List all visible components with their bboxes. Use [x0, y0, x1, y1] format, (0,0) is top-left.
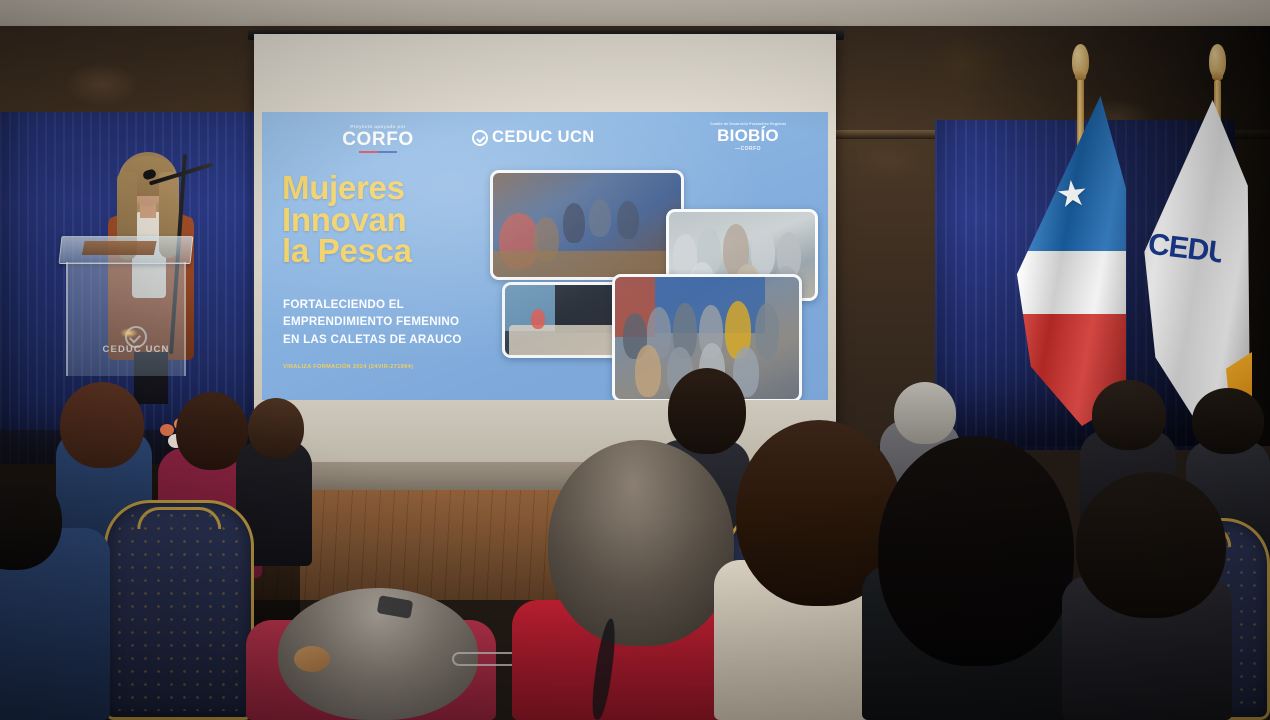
attendee-head	[248, 398, 304, 458]
corfo-logo: Proyecto apoyado por CORFO	[318, 124, 438, 153]
slide-headline: Mujeres Innovan la Pesca	[282, 172, 512, 267]
podium-top-surface	[59, 236, 194, 264]
hair-scrunchie	[294, 646, 330, 672]
chile-flag-star-icon: ★	[1054, 174, 1090, 213]
eyeglasses-icon	[452, 652, 518, 666]
slide-photo-collage	[490, 170, 820, 395]
presentation-photo-scene: Proyecto apoyado por CORFO CEDUC UCN Com…	[0, 0, 1270, 720]
banquet-chair	[104, 500, 254, 720]
podium-notes	[82, 241, 157, 255]
corfo-pretext: Proyecto apoyado por	[318, 124, 438, 129]
flagpole-finial-chile	[1072, 44, 1089, 78]
collage-photo-1	[490, 170, 684, 280]
attendee-head	[1092, 380, 1166, 450]
corfo-accent-bar	[359, 151, 397, 153]
ceduc-name: CEDUC UCN	[492, 128, 595, 147]
attendee-head	[1192, 388, 1264, 454]
slide-footnote: VIRALIZA FORMACIÓN 2024 (24VIR-271994)	[283, 364, 413, 370]
flagpole-finial-ceduc	[1209, 44, 1226, 78]
attendee-head	[60, 382, 144, 468]
podium-lectern: CEDUC UCN	[60, 236, 192, 376]
collage-photo-3	[502, 282, 622, 358]
podium-logo-text: CEDUC UCN	[84, 344, 188, 355]
biobio-name: BIOBÍO	[696, 127, 800, 145]
slide-logo-row: Proyecto apoyado por CORFO CEDUC UCN Com…	[262, 122, 828, 164]
ceduc-logo: CEDUC UCN	[472, 128, 595, 147]
presentation-slide: Proyecto apoyado por CORFO CEDUC UCN Com…	[262, 112, 828, 400]
corfo-name: CORFO	[318, 130, 438, 149]
projection-screen-lower	[254, 400, 836, 464]
check-circle-icon	[472, 130, 488, 146]
attendee-head	[894, 382, 956, 444]
chair-back-opening	[137, 507, 221, 529]
podium-light-glare	[120, 328, 138, 338]
attendee-head	[548, 440, 734, 646]
attendee-head	[668, 368, 746, 454]
attendee-head	[1076, 472, 1226, 618]
biobio-subtext: —CORFO	[696, 146, 800, 152]
biobio-logo: Comité de Desarrollo Productivo Regional…	[696, 122, 800, 152]
podium-front-panel: CEDUC UCN	[66, 262, 186, 376]
attendee-head	[878, 436, 1074, 666]
